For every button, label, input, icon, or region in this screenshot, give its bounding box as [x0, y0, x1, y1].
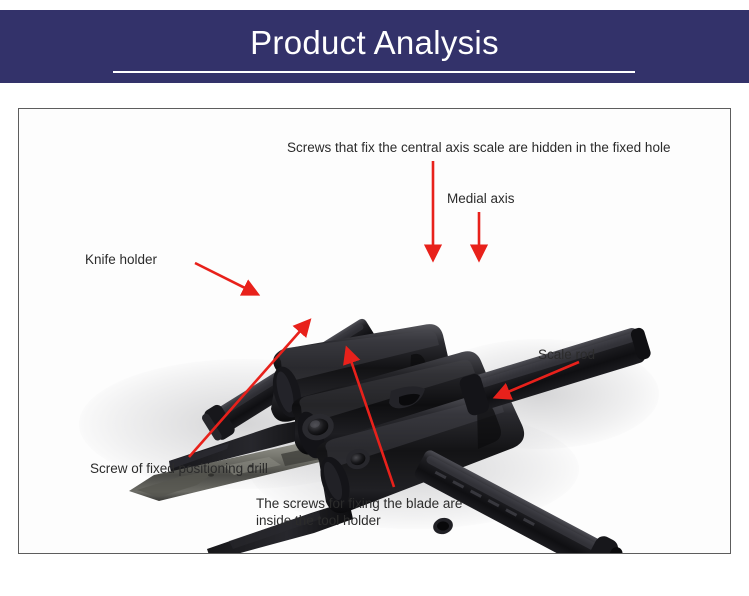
annotation-medial-axis: Medial axis	[447, 190, 515, 207]
header-banner: Product Analysis	[0, 10, 749, 83]
annotation-positioning-drill-screw: Screw of fixed positioning drill	[90, 460, 268, 477]
annotation-scale-rod: Scale rod	[538, 346, 595, 363]
annotation-blade-screws-line1: The screws for fixing the blade are	[256, 495, 462, 512]
product-photo: Screws that fix the central axis scale a…	[19, 109, 731, 554]
page-title: Product Analysis	[0, 24, 749, 62]
header-divider	[113, 71, 635, 73]
annotation-central-axis-screws: Screws that fix the central axis scale a…	[287, 139, 670, 156]
annotation-knife-holder: Knife holder	[85, 251, 157, 268]
hex-shank-rod	[458, 323, 653, 417]
annotation-blade-screws: The screws for fixing the blade are insi…	[256, 495, 462, 529]
hole-cutter-tool	[19, 109, 731, 554]
annotation-blade-screws-line2: inside the tool holder	[256, 512, 462, 529]
product-analysis-panel: Screws that fix the central axis scale a…	[18, 108, 731, 554]
